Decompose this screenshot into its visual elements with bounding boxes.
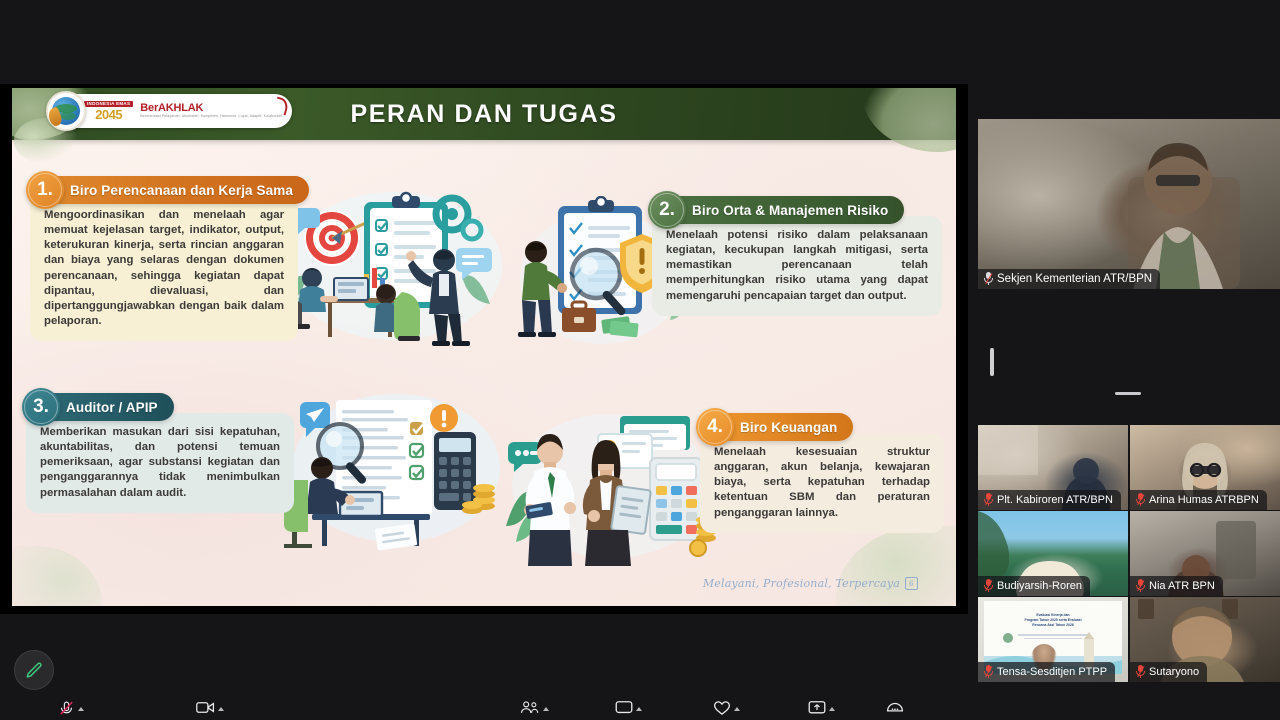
participant-tile-3[interactable]: Nia ATR BPN [1130,511,1280,596]
rail-drag-handle[interactable] [1115,392,1141,395]
tile-2-name-chip: Budiyarsih-Roren [978,576,1090,596]
tile-5-name-chip: Sutaryono [1130,662,1207,682]
speaker-video-feed [978,119,1280,289]
card-1-number: 1. [26,171,64,209]
card-3-text: Memberikan masukan dari sisi kepatuhan, … [40,425,280,501]
illustration-auditor-desk [284,388,504,553]
tile-4-name-chip: Tensa-Sesditjen PTPP [978,662,1115,682]
share-screen-caret-icon[interactable] [829,707,835,711]
tagline-logo-mark: 6 [905,577,918,590]
toolbar-participants-button[interactable] [520,700,549,715]
card-2-body: Menelaah potensi risiko dalam pelaksanaa… [652,216,942,316]
berakhlak-subtext: Berorientasi Pelayanan, Akuntabel, Kompe… [140,115,282,119]
card-2-title: Biro Orta & Manajemen Risiko [692,203,888,218]
card-4-number: 4. [696,408,734,446]
berakhlak-logo: BerAKHLAK Berorientasi Pelayanan, Akunta… [140,103,282,119]
card-biro-perencanaan: 1. Biro Perencanaan dan Kerja Sama Mengo… [30,176,298,341]
emas-year-text: 2045 [84,108,133,121]
tile-3-name: Nia ATR BPN [1149,580,1215,592]
slide-title: PERAN DAN TUGAS [350,100,617,129]
meeting-toolbar[interactable] [0,692,968,720]
card-4-text: Menelaah kesesuaian struktur anggaran, a… [714,445,930,521]
card-1-body: Mengoordinasikan dan menelaah agar memua… [30,196,298,341]
participant-tile-2[interactable]: Budiyarsih-Roren [978,511,1128,596]
card-4-header: 4. Biro Keuangan [700,413,853,441]
meeting-window: PERAN DAN TUGAS INDONESIA EMAS 2045 BerA… [0,0,1280,720]
card-2-text: Menelaah potensi risiko dalam pelaksanaa… [666,228,928,304]
institution-logo-pill: INDONESIA EMAS 2045 BerAKHLAK Berorienta… [50,94,292,128]
berakhlak-swoosh-icon [273,97,290,116]
speaker-silhouette [978,119,1280,289]
indonesia-emas-2045-logo: INDONESIA EMAS 2045 [84,101,133,122]
card-4-body: Menelaah kesesuaian struktur anggaran, a… [700,433,944,533]
tile-4-slide-line3: Rencana Aksi Tahun 2026 [984,623,1122,628]
tile-5-mic-icon [1136,665,1145,678]
toolbar-camera-button[interactable] [196,700,224,715]
shared-screen-stage[interactable]: PERAN DAN TUGAS INDONESIA EMAS 2045 BerA… [0,84,968,614]
card-2-header: 2. Biro Orta & Manajemen Risiko [652,196,904,224]
card-3-number: 3. [22,388,60,426]
participant-tile-0[interactable]: Plt. Kabiroren ATR/BPN [978,425,1128,510]
tile-1-name-chip: Arina Humas ATRBPN [1130,490,1267,510]
speaker-name-chip: Sekjen Kementerian ATR/BPN [978,269,1160,289]
card-1-text: Mengoordinasikan dan menelaah agar memua… [44,208,284,329]
card-auditor-apip: 3. Auditor / APIP Memberikan masukan dar… [26,393,294,513]
rail-resize-handle[interactable] [990,348,994,376]
tile-0-name: Plt. Kabiroren ATR/BPN [997,494,1113,506]
participant-tile-5[interactable]: Sutaryono [1130,597,1280,682]
atr-bpn-globe-icon [46,91,86,131]
presentation-slide: PERAN DAN TUGAS INDONESIA EMAS 2045 BerA… [12,88,956,606]
mic-muted-icon [58,700,75,717]
camera-caret-icon[interactable] [218,707,224,711]
pencil-icon [25,661,44,680]
tile-1-mic-icon [1136,493,1145,506]
card-3-header: 3. Auditor / APIP [26,393,174,421]
tile-4-mic-icon [984,665,993,678]
illustration-finance-team [502,406,717,566]
tile-3-name-chip: Nia ATR BPN [1130,576,1223,596]
reactions-icon [713,700,731,716]
toolbar-react-button[interactable] [713,700,740,716]
participant-rail: Sekjen Kementerian ATR/BPN Plt. Kabirore… [976,0,1280,720]
toolbar-share-screen-button[interactable] [808,700,835,715]
tile-2-mic-icon [984,579,993,592]
card-3-title: Auditor / APIP [66,400,158,415]
share-screen-icon [808,700,826,715]
toolbar-chat-button[interactable] [615,700,642,715]
mic-caret-icon[interactable] [78,707,84,711]
card-1-title: Biro Perencanaan dan Kerja Sama [70,183,293,198]
toolbar-mic-button[interactable] [58,700,84,717]
card-2-number: 2. [648,191,686,229]
card-3-body: Memberikan masukan dari sisi kepatuhan, … [26,413,294,513]
tile-0-name-chip: Plt. Kabiroren ATR/BPN [978,490,1121,510]
slide-tagline: Melayani, Profesional, Terpercaya 6 [703,577,918,590]
tile-0-mic-icon [984,493,993,506]
tile-1-name: Arina Humas ATRBPN [1149,494,1259,506]
participant-tile-4[interactable]: Evaluasi Kinerja dan Program Tahun 2025 … [978,597,1128,682]
speaker-name: Sekjen Kementerian ATR/BPN [997,273,1152,285]
illustration-planning-team [276,186,506,346]
chat-bubble-icon [615,700,633,715]
tile-3-mic-icon [1136,579,1145,592]
speaker-mic-icon [984,272,993,285]
card-biro-keuangan: 4. Biro Keuangan Menelaah kesesuaian str… [700,413,944,533]
berakhlak-text: BerAKHLAK [140,103,282,115]
video-camera-icon [196,700,215,715]
participants-caret-icon[interactable] [543,707,549,711]
tile-4-name: Tensa-Sesditjen PTPP [997,666,1107,678]
tile-2-name: Budiyarsih-Roren [997,580,1082,592]
people-icon [520,700,540,715]
participant-tile-speaker[interactable]: Sekjen Kementerian ATR/BPN [978,119,1280,289]
card-biro-orta: 2. Biro Orta & Manajemen Risiko Menelaah… [652,196,942,316]
card-4-title: Biro Keuangan [740,420,837,435]
tile-5-name: Sutaryono [1149,666,1199,678]
toolbar-more-button[interactable] [886,700,904,716]
chat-caret-icon[interactable] [636,707,642,711]
card-1-header: 1. Biro Perencanaan dan Kerja Sama [30,176,309,204]
participant-tile-1[interactable]: Arina Humas ATRBPN [1130,425,1280,510]
more-options-icon [886,700,904,716]
tagline-text: Melayani, Profesional, Terpercaya [703,577,900,590]
react-caret-icon[interactable] [734,707,740,711]
annotate-pencil-button[interactable] [14,650,54,690]
